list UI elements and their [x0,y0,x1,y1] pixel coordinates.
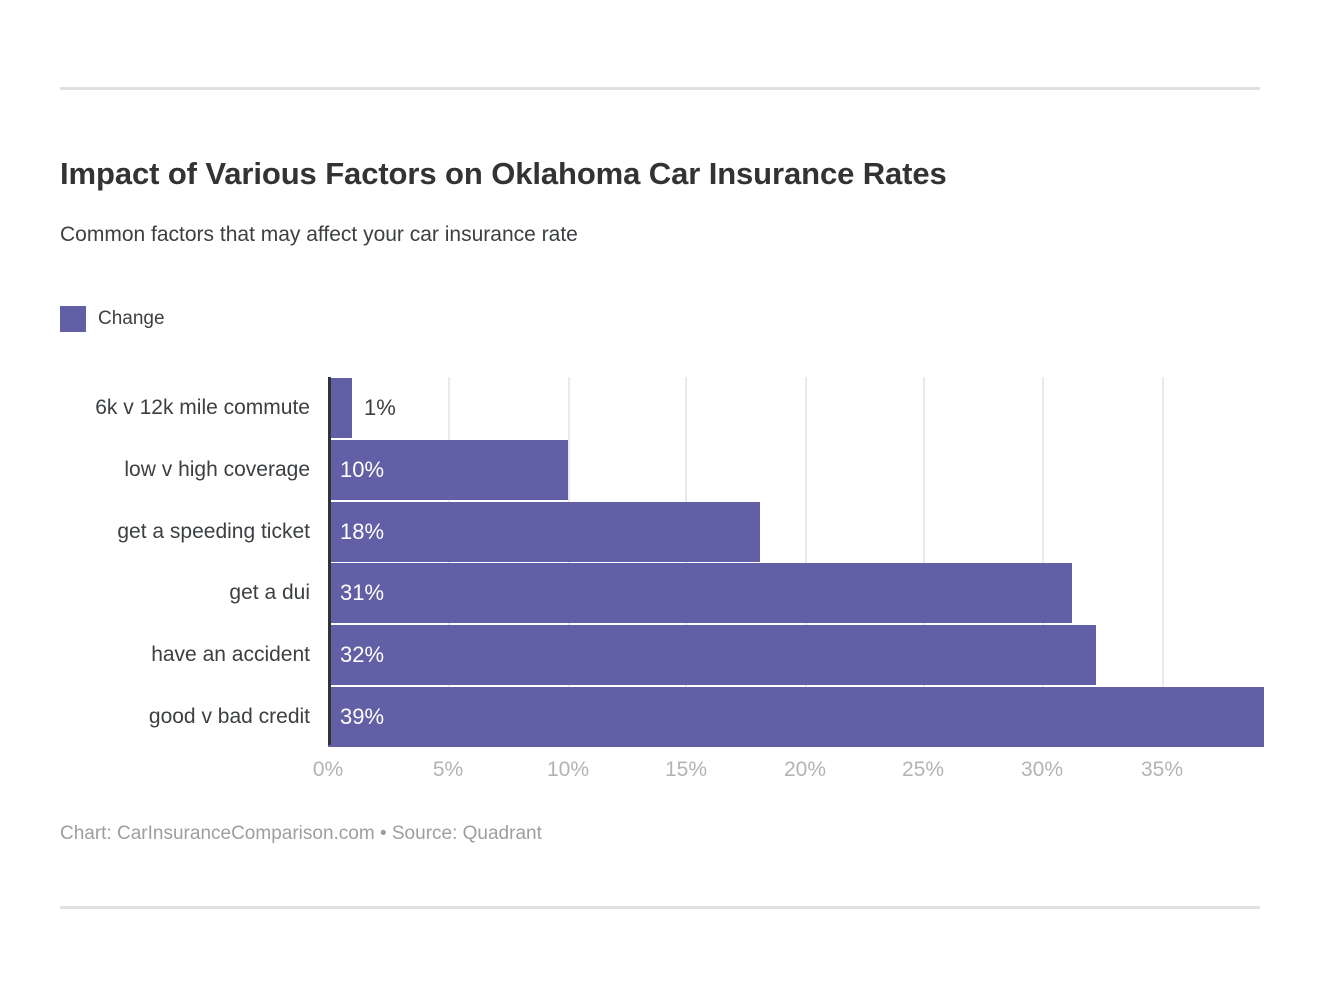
x-tick-label: 0% [313,758,343,782]
bar-value-label: 39% [340,687,384,747]
x-tick-label: 30% [1021,758,1063,782]
x-tick-label: 5% [433,758,463,782]
bar-value-label: 1% [364,378,396,438]
x-tick-label: 25% [902,758,944,782]
bar-have-an-accident[interactable] [328,625,1096,685]
category-label: good v bad credit [0,687,310,747]
bar-value-label: 31% [340,563,384,623]
x-tick-label: 15% [665,758,707,782]
category-label: have an accident [0,625,310,685]
bar-6k-v-12k-mile-commute[interactable] [328,378,352,438]
category-label: get a speeding ticket [0,502,310,562]
category-label: get a dui [0,563,310,623]
category-label: low v high coverage [0,440,310,500]
category-label: 6k v 12k mile commute [0,378,310,438]
divider-bottom [60,906,1260,909]
bar-get-a-speeding-ticket[interactable] [328,502,760,562]
chart-footer-attribution: Chart: CarInsuranceComparison.com • Sour… [60,823,542,845]
bar-value-label: 32% [340,625,384,685]
bar-value-label: 10% [340,440,384,500]
x-tick-label: 35% [1141,758,1183,782]
y-axis-line [328,377,331,745]
bar-get-a-dui[interactable] [328,563,1072,623]
x-tick-label: 10% [547,758,589,782]
x-tick-label: 20% [784,758,826,782]
bar-good-v-bad-credit[interactable] [328,687,1264,747]
chart-card: Impact of Various Factors on Oklahoma Ca… [0,0,1320,992]
bar-value-label: 18% [340,502,384,562]
